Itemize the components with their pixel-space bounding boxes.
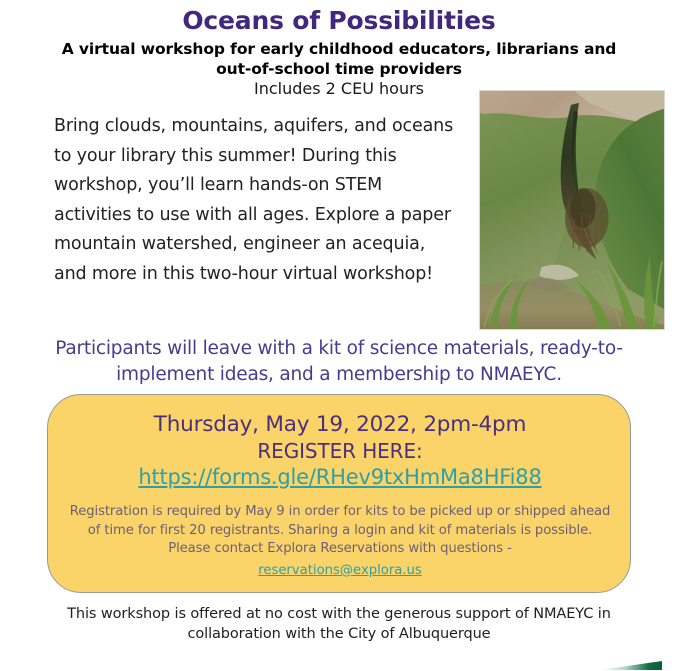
registration-callout-box: Thursday, May 19, 2022, 2pm-4pm REGISTER… — [47, 394, 631, 593]
acequia-photo — [479, 90, 665, 330]
registration-link-wrapper: https://forms.gle/RHev9txHmMa8HFi88 — [48, 465, 632, 489]
contact-email-link[interactable]: reservations@explora.us — [258, 563, 422, 578]
register-here-label: REGISTER HERE: — [48, 439, 632, 463]
page-title: Oceans of Possibilities — [0, 6, 678, 35]
flyer-page: Oceans of Possibilities A virtual worksh… — [0, 0, 678, 671]
workshop-description: Bring clouds, mountains, aquifers, and o… — [54, 112, 454, 289]
contact-email-wrapper: reservations@explora.us — [48, 559, 632, 578]
event-date-time: Thursday, May 19, 2022, 2pm-4pm — [48, 412, 632, 437]
registration-fine-print: Registration is required by May 9 in ord… — [66, 503, 614, 559]
participants-note: Participants will leave with a kit of sc… — [14, 336, 664, 388]
acequia-photo-image — [480, 91, 664, 329]
green-decoration-shape — [600, 661, 662, 670]
support-footer: This workshop is offered at no cost with… — [60, 604, 618, 644]
page-subtitle: A virtual workshop for early childhood e… — [60, 39, 618, 79]
registration-link[interactable]: https://forms.gle/RHev9txHmMa8HFi88 — [138, 465, 541, 489]
